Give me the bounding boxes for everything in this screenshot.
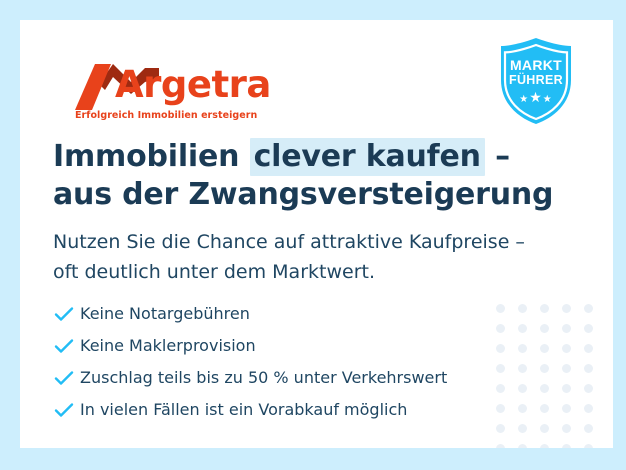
decoration-dot (562, 364, 571, 373)
promo-banner: Argetra Erfolgreich Immobilien ersteiger… (0, 0, 626, 470)
subtitle-line-1: Nutzen Sie die Chance auf attraktive Kau… (53, 231, 525, 253)
list-item: Zuschlag teils bis zu 50 % unter Verkehr… (54, 362, 554, 394)
decoration-dot (584, 324, 593, 333)
decoration-dot (584, 364, 593, 373)
decoration-dot (584, 344, 593, 353)
decoration-dot (562, 424, 571, 433)
check-icon (54, 397, 80, 423)
decoration-dot (584, 384, 593, 393)
headline-suffix: – (485, 139, 510, 174)
decoration-dot (584, 424, 593, 433)
decoration-dot (562, 384, 571, 393)
argetra-logo: Argetra Erfolgreich Immobilien ersteiger… (75, 60, 275, 130)
decoration-dot (584, 404, 593, 413)
decoration-dot (562, 304, 571, 313)
decoration-dot (518, 444, 527, 449)
headline-line-2: aus der Zwangsversteigerung (53, 177, 553, 212)
check-icon (54, 365, 80, 391)
subtitle: Nutzen Sie die Chance auf attraktive Kau… (53, 227, 573, 287)
list-item: In vielen Fällen ist ein Vorabkauf mögli… (54, 394, 554, 426)
benefits-list: Keine Notargebühren Keine Maklerprovisio… (54, 298, 554, 426)
list-item-label: Zuschlag teils bis zu 50 % unter Verkehr… (80, 367, 447, 389)
list-item-label: Keine Notargebühren (80, 303, 250, 325)
subtitle-line-2: oft deutlich unter dem Marktwert. (53, 261, 375, 283)
check-icon (54, 301, 80, 327)
list-item-label: In vielen Fällen ist ein Vorabkauf mögli… (80, 399, 407, 421)
decoration-dot (562, 444, 571, 449)
decoration-dot (562, 324, 571, 333)
banner-card: Argetra Erfolgreich Immobilien ersteiger… (20, 20, 613, 448)
decoration-dot (584, 304, 593, 313)
logo-wordmark: Argetra (115, 62, 271, 108)
decoration-dot (562, 404, 571, 413)
decoration-dot (562, 344, 571, 353)
list-item: Keine Notargebühren (54, 298, 554, 330)
decoration-dot (496, 444, 505, 449)
market-leader-badge: MARKT FÜHRER ★★★ (491, 36, 581, 126)
list-item: Keine Maklerprovision (54, 330, 554, 362)
headline-line-1: Immobilien clever kaufen – (53, 138, 510, 176)
list-item-label: Keine Maklerprovision (80, 335, 256, 357)
page-title: Immobilien clever kaufen – aus der Zwang… (53, 138, 573, 214)
shield-badge-icon (491, 36, 581, 126)
headline-highlight: clever kaufen (250, 138, 485, 176)
decoration-dot (584, 444, 593, 449)
check-icon (54, 333, 80, 359)
decoration-dot (540, 444, 549, 449)
headline-prefix: Immobilien (53, 139, 250, 174)
logo-tagline: Erfolgreich Immobilien ersteigern (75, 110, 257, 121)
